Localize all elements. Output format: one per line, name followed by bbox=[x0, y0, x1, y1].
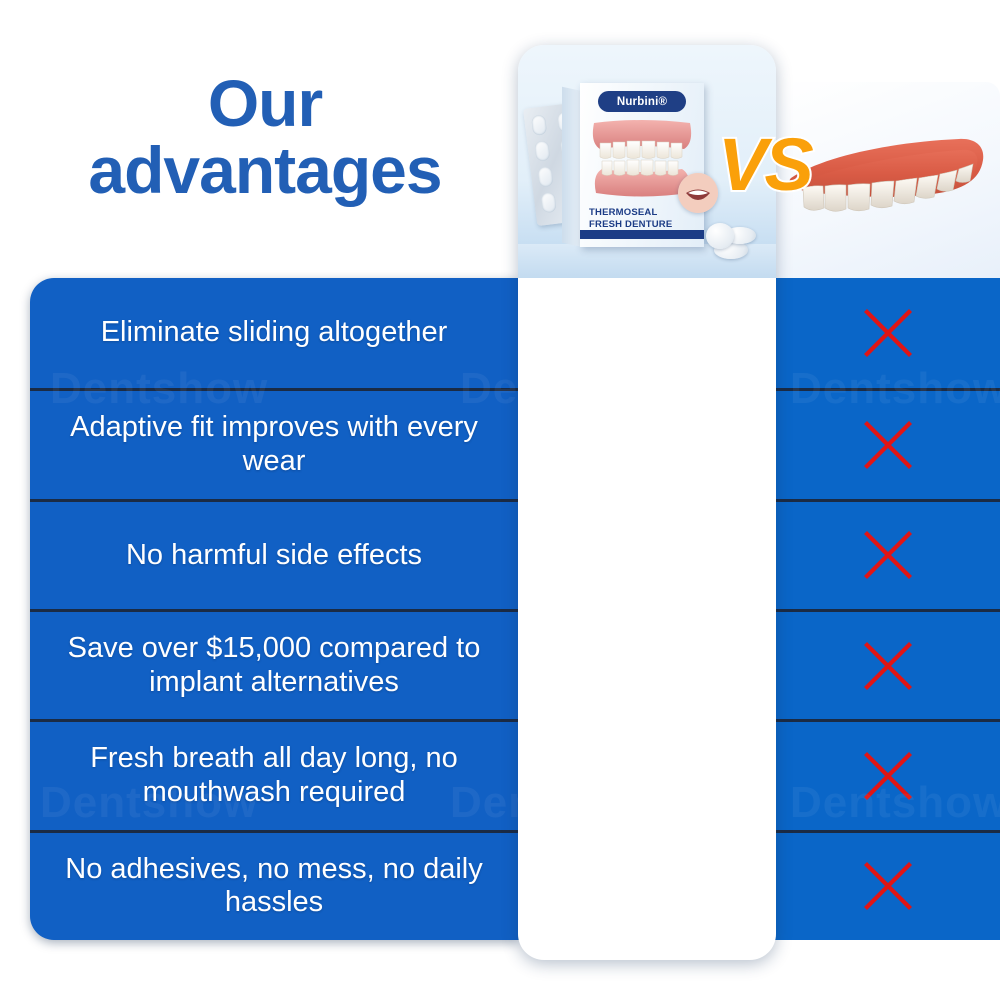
competitor-cell bbox=[775, 722, 1000, 829]
page-title-line2: advantages bbox=[30, 137, 500, 204]
cross-icon bbox=[861, 859, 915, 913]
feature-label-cell: Adaptive fit improves with every wear bbox=[30, 391, 518, 498]
competitor-cell bbox=[775, 278, 1000, 388]
competitor-cell bbox=[775, 391, 1000, 498]
cross-icon bbox=[861, 749, 915, 803]
cross-icon bbox=[861, 639, 915, 693]
box-bottom-stripe bbox=[580, 230, 704, 239]
table-row: Eliminate sliding altogether bbox=[30, 278, 1000, 388]
feature-label-cell: No adhesives, no mess, no daily hassles bbox=[30, 833, 518, 940]
feature-label-cell: Eliminate sliding altogether bbox=[30, 278, 518, 388]
table-row: No adhesives, no mess, no daily hassles bbox=[30, 830, 1000, 940]
smiling-mouth-icon bbox=[678, 173, 718, 213]
competitor-cell bbox=[775, 502, 1000, 609]
product-box-side bbox=[562, 87, 582, 247]
page-title: Our advantages bbox=[30, 70, 500, 205]
table-row: No harmful side effects bbox=[30, 499, 1000, 609]
product-box-label: THERMOSEAL FRESH DENTURE bbox=[589, 207, 695, 231]
cross-icon bbox=[861, 418, 915, 472]
generic-denture-icon bbox=[783, 134, 995, 242]
comparison-rows: Eliminate sliding altogether Adaptive fi… bbox=[30, 278, 1000, 940]
comparison-table: Dentshow Dentshow Dentshow Dentshow Dent… bbox=[30, 278, 1000, 940]
cross-icon bbox=[861, 306, 915, 360]
brand-badge: Nurbini® bbox=[598, 91, 686, 112]
box-label-line2: FRESH DENTURE bbox=[589, 219, 695, 231]
smile-photo-bubble bbox=[678, 173, 718, 213]
infographic-canvas: Our advantages bbox=[0, 0, 1000, 1000]
box-label-line1: THERMOSEAL bbox=[589, 207, 695, 219]
table-row: Save over $15,000 compared to implant al… bbox=[30, 609, 1000, 719]
feature-label-cell: Save over $15,000 compared to implant al… bbox=[30, 612, 518, 719]
vs-badge: VS bbox=[718, 128, 811, 202]
feature-label-cell: No harmful side effects bbox=[30, 502, 518, 609]
feature-label-cell: Fresh breath all day long, no mouthwash … bbox=[30, 722, 518, 829]
table-row: Fresh breath all day long, no mouthwash … bbox=[30, 719, 1000, 829]
table-row: Adaptive fit improves with every wear bbox=[30, 388, 1000, 498]
competitor-cell bbox=[775, 612, 1000, 719]
product-box: Nurbini® bbox=[580, 83, 704, 247]
competitor-cell bbox=[775, 833, 1000, 940]
cross-icon bbox=[861, 528, 915, 582]
tablet-icon bbox=[706, 223, 734, 249]
page-title-line1: Our bbox=[208, 66, 322, 140]
